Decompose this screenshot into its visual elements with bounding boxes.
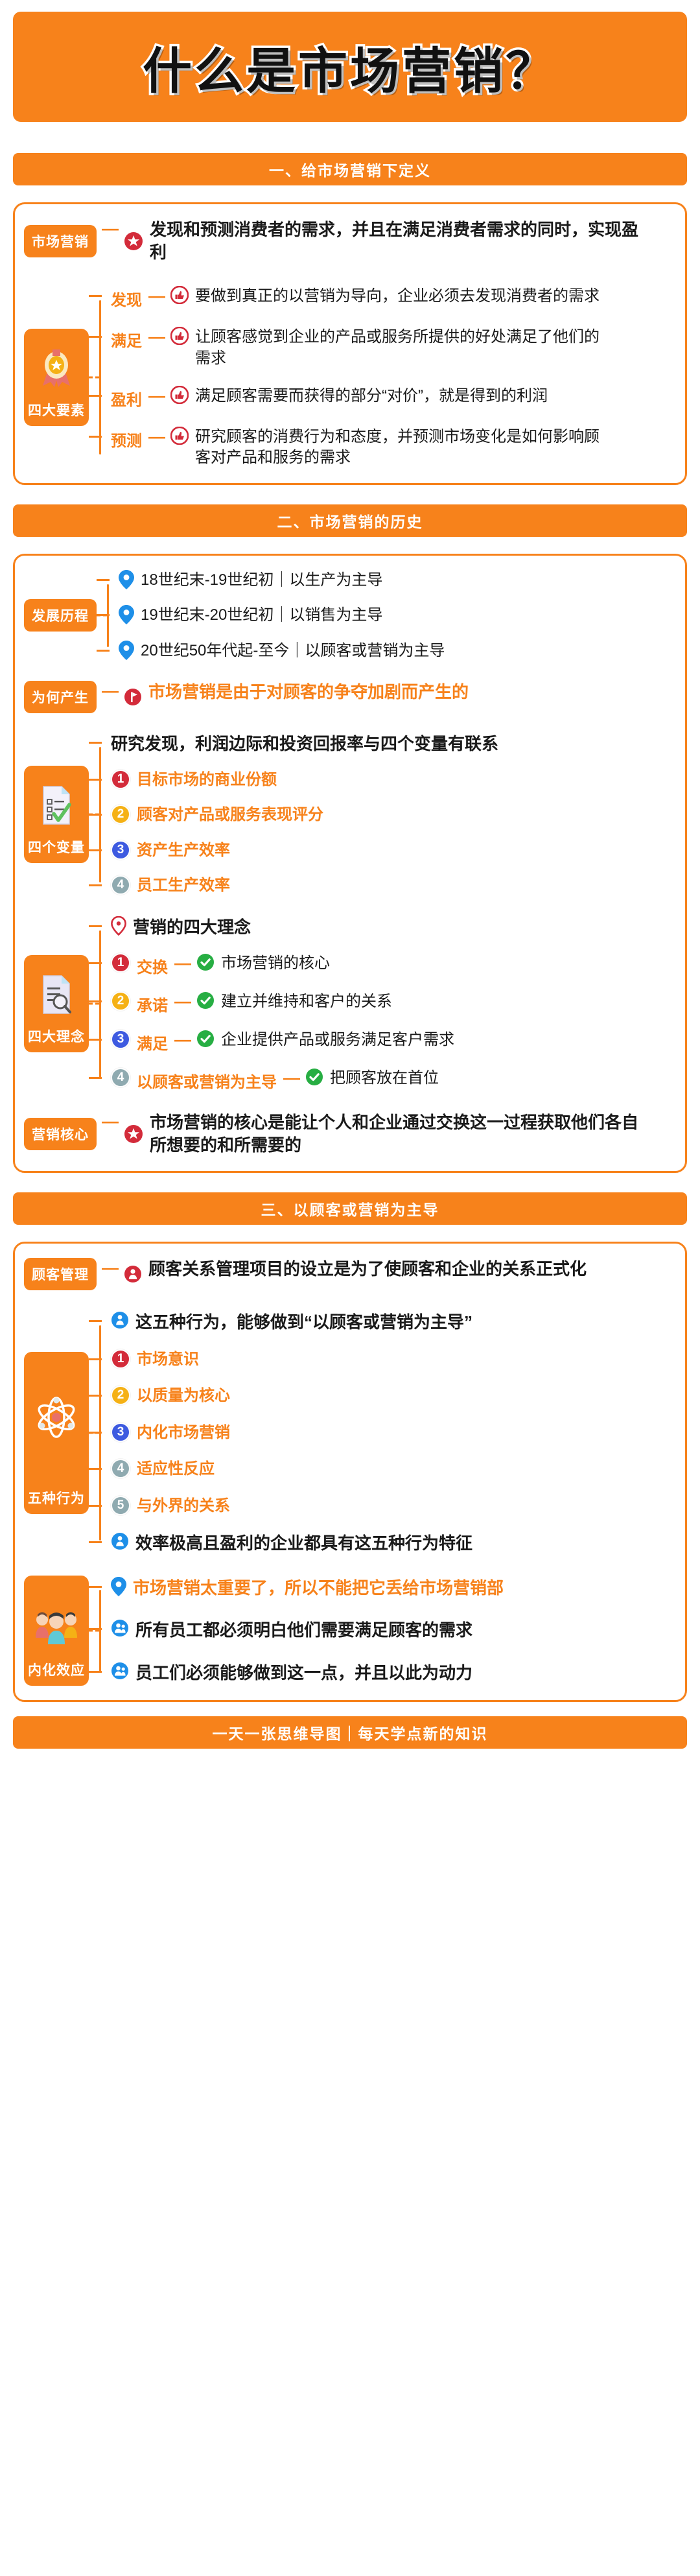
number-badge-2: 2	[111, 805, 130, 824]
list-item: 5 与外界的关系	[111, 1496, 673, 1517]
element-keyword: 满足	[111, 327, 142, 351]
elbow-connector	[89, 884, 102, 886]
crm-tag: 顾客管理	[24, 1258, 97, 1290]
title-banner: 什么是市场营销？	[13, 12, 687, 122]
elbow-connector	[89, 925, 102, 927]
thumbs-up-icon	[170, 427, 189, 445]
concept-text: 市场营销的核心	[221, 953, 330, 974]
behaviors-footer: 效率极高且盈利的企业都具有这五种行为特征	[135, 1532, 472, 1555]
variable-text: 资产生产效率	[137, 840, 230, 861]
behavior-text: 以质量为核心	[137, 1386, 230, 1406]
number-badge-1: 1	[111, 1349, 130, 1369]
branch-connector	[89, 286, 111, 469]
list-item: 19世纪末-20世纪初｜以销售为主导	[119, 605, 673, 626]
section-2-card: 发展历程 18世纪末-19世纪初｜以生产为主导	[13, 554, 687, 1173]
behavior-text: 与外界的关系	[137, 1496, 230, 1517]
variable-text: 员工生产效率	[137, 875, 230, 896]
footer-label: 一天一张思维导图｜每天学点新的知识	[213, 1721, 488, 1743]
section-2-header: 二、市场营销的历史	[13, 504, 687, 537]
elbow-connector	[89, 1432, 102, 1434]
list-item: 1 目标市场的商业份额	[111, 770, 673, 790]
check-circle-icon	[196, 953, 215, 971]
person-square-icon	[111, 1311, 129, 1329]
elbow-connector	[89, 1628, 102, 1630]
number-badge-2: 2	[111, 1386, 130, 1405]
marketing-core-text: 市场营销的核心是能让个人和企业通过交换这一过程获取他们各自所想要的和所需要的	[150, 1111, 649, 1157]
number-badge-1: 1	[111, 770, 130, 789]
concept-text: 建立并维持和客户的关系	[221, 991, 392, 1012]
connector-stub	[89, 376, 99, 378]
section-1-label: 一、给市场营销下定义	[269, 158, 431, 180]
flag-pin-icon	[124, 681, 142, 713]
number-badge-1: 1	[111, 953, 130, 973]
list-item: 3 资产生产效率	[111, 840, 673, 861]
atom-icon	[34, 1395, 79, 1445]
number-badge-4: 4	[111, 875, 130, 895]
four-elements-branch: 四大要素 发现 — 要做到真正的以营销为导向，企业必须去发现消费者的需求	[24, 286, 673, 469]
check-circle-icon	[305, 1068, 323, 1086]
list-item: 2 承诺 — 建立并维持和客户的关系	[111, 991, 673, 1015]
history-text: 20世纪50年代起-至今｜以顾客或营销为主导	[141, 641, 445, 661]
five-behaviors-branch: 五种行为 这五种行为，能够做到“以顾客或营销为主导” 1 市场意识	[24, 1311, 673, 1555]
thumbs-up-icon	[170, 386, 189, 404]
elbow-connector	[89, 1039, 102, 1041]
number-badge-2: 2	[111, 991, 130, 1011]
four-concepts-tag: 四大理念	[24, 955, 89, 1052]
list-item: 18世纪末-19世纪初｜以生产为主导	[119, 570, 673, 591]
connector-dash: —	[143, 386, 170, 406]
concepts-lead: 营销的四大理念	[133, 916, 251, 939]
element-desc: 研究顾客的消费行为和态度，并预测市场变化是如何影响顾客对产品和服务的需求	[195, 427, 610, 469]
elbow-connector	[89, 962, 102, 964]
history-text: 18世纪末-19世纪初｜以生产为主导	[141, 570, 382, 591]
history-rows: 18世纪末-19世纪初｜以生产为主导 19世纪末-20世纪初｜以销售为主导 20…	[119, 570, 673, 661]
behavior-text: 内化市场营销	[137, 1423, 230, 1443]
connector-dash: —	[97, 681, 124, 713]
list-item-lead: 研究发现，利润边际和投资回报率与四个变量有联系	[111, 733, 673, 755]
definition-branch: 市场营销 — 发现和预测消费者的需求，并且在满足消费者需求的同时，实现盈利	[24, 219, 673, 264]
elbow-connector	[89, 436, 102, 438]
team-icon	[33, 1611, 80, 1653]
element-desc: 让顾客感觉到企业的产品或服务所提供的好处满足了他们的需求	[195, 327, 610, 369]
section-3-label: 三、以顾客或营销为主导	[261, 1198, 439, 1220]
concept-keyword: 交换	[137, 953, 168, 977]
four-concepts-label: 四大理念	[28, 1026, 85, 1046]
elbow-connector	[89, 849, 102, 851]
four-variables-tag: 四个变量	[24, 766, 89, 863]
location-pin-icon	[119, 570, 134, 589]
connector-line	[99, 1590, 101, 1672]
section-1-card: 市场营销 — 发现和预测消费者的需求，并且在满足消费者需求的同时，实现盈利	[13, 202, 687, 485]
history-text: 19世纪末-20世纪初｜以销售为主导	[141, 605, 382, 626]
connector-dash: —	[169, 991, 196, 1011]
elbow-connector	[89, 295, 102, 297]
star-badge-icon	[124, 1111, 143, 1157]
four-concepts-rows: 营销的四大理念 1 交换 — 市场营销的核心 2 承诺 —	[111, 916, 673, 1092]
elbow-connector	[89, 1077, 102, 1079]
check-circle-icon	[196, 1030, 215, 1048]
medal-icon	[39, 348, 74, 394]
list-item: 盈利 — 满足顾客需要而获得的部分“对价”，就是得到的利润	[111, 386, 673, 410]
elbow-connector	[89, 1541, 102, 1543]
connector-dash: —	[143, 286, 170, 306]
list-item-lead: 营销的四大理念	[111, 916, 673, 939]
list-item-footer: 效率极高且盈利的企业都具有这五种行为特征	[111, 1532, 673, 1555]
thumbs-up-icon	[170, 286, 189, 304]
person-badge-icon	[124, 1258, 142, 1290]
internalization-text: 市场营销太重要了，所以不能把它丢给市场营销部	[133, 1577, 504, 1600]
elbow-connector	[89, 1000, 102, 1002]
number-badge-3: 3	[111, 1423, 130, 1442]
marketing-core-tag: 营销核心	[24, 1118, 97, 1150]
number-badge-4: 4	[111, 1459, 130, 1478]
connector-line	[99, 930, 101, 1078]
list-item-lead: 这五种行为，能够做到“以顾客或营销为主导”	[111, 1311, 673, 1334]
list-item: 市场营销太重要了，所以不能把它丢给市场营销部	[111, 1577, 673, 1600]
list-item: 满足 — 让顾客感觉到企业的产品或服务所提供的好处满足了他们的需求	[111, 327, 673, 369]
four-elements-label: 四大要素	[28, 400, 85, 419]
variables-lead: 研究发现，利润边际和投资回报率与四个变量有联系	[111, 733, 498, 755]
concept-keyword: 承诺	[137, 991, 168, 1015]
four-variables-label: 四个变量	[28, 837, 85, 857]
connector-dash: —	[143, 427, 170, 447]
four-elements-tag: 四大要素	[24, 329, 89, 426]
elbow-connector	[89, 1320, 102, 1322]
internalization-branch: 内化效应 市场营销太重要了，所以不能把它丢给市场营销部	[24, 1576, 673, 1686]
location-pin-icon	[119, 605, 134, 624]
list-item: 发现 — 要做到真正的以营销为导向，企业必须去发现消费者的需求	[111, 286, 673, 310]
concept-text: 把顾客放在首位	[330, 1068, 439, 1089]
element-desc: 满足顾客需要而获得的部分“对价”，就是得到的利润	[195, 386, 548, 407]
number-badge-5: 5	[111, 1496, 130, 1515]
internalization-rows: 市场营销太重要了，所以不能把它丢给市场营销部 所有员工都必须明白他们需要满足顾客…	[111, 1576, 673, 1686]
elbow-connector	[89, 1586, 102, 1588]
people-circle-icon	[111, 1662, 129, 1680]
location-pin-icon	[111, 1577, 126, 1596]
number-badge-4: 4	[111, 1068, 130, 1087]
elbow-connector	[89, 1505, 102, 1507]
element-keyword: 盈利	[111, 386, 142, 410]
connector-dash: —	[169, 1030, 196, 1050]
check-circle-icon	[196, 991, 215, 1010]
connector-dash: —	[143, 327, 170, 347]
marketing-core-branch: 营销核心 — 市场营销的核心是能让个人和企业通过交换这一过程获取他们各自所想要的…	[24, 1111, 673, 1157]
definition-tag: 市场营销	[24, 225, 97, 257]
list-item: 2 以质量为核心	[111, 1386, 673, 1406]
internalization-text: 所有员工都必须明白他们需要满足顾客的需求	[135, 1619, 472, 1642]
elbow-connector	[89, 742, 102, 744]
origin-tag: 为何产生	[24, 681, 97, 713]
star-badge-icon	[124, 219, 143, 264]
elbow-connector	[97, 614, 110, 616]
connector-dash: —	[97, 219, 124, 264]
element-keyword: 预测	[111, 427, 142, 451]
behavior-text: 市场意识	[137, 1349, 199, 1370]
list-item: 员工们必须能够做到这一点，并且以此为动力	[111, 1662, 673, 1684]
list-item: 1 市场意识	[111, 1349, 673, 1370]
four-variables-rows: 研究发现，利润边际和投资回报率与四个变量有联系 1 目标市场的商业份额 2 顾客…	[111, 733, 673, 897]
elbow-connector	[97, 650, 110, 652]
branch-connector	[89, 1576, 111, 1686]
connector-stub	[89, 1003, 99, 1005]
connector-dash: —	[97, 1258, 124, 1290]
crm-text: 顾客关系管理项目的设立是为了使顾客和企业的关系正式化	[148, 1258, 587, 1290]
list-item: 所有员工都必须明白他们需要满足顾客的需求	[111, 1619, 673, 1642]
definition-text: 发现和预测消费者的需求，并且在满足消费者需求的同时，实现盈利	[150, 219, 649, 264]
doc-magnifier-icon	[40, 975, 73, 1020]
element-desc: 要做到真正的以营销为导向，企业必须去发现消费者的需求	[195, 286, 600, 307]
thumbs-up-icon	[170, 327, 189, 345]
list-item: 2 顾客对产品或服务表现评分	[111, 805, 673, 825]
behaviors-lead: 这五种行为，能够做到“以顾客或营销为主导”	[135, 1311, 472, 1334]
list-item: 4 以顾客或营销为主导 — 把顾客放在首位	[111, 1068, 673, 1092]
internalization-tag: 内化效应	[24, 1576, 89, 1686]
five-behaviors-rows: 这五种行为，能够做到“以顾客或营销为主导” 1 市场意识 2 以质量为核心 3 …	[111, 1311, 673, 1555]
elbow-connector	[89, 779, 102, 781]
elbow-connector	[89, 1671, 102, 1673]
elbow-connector	[89, 336, 102, 338]
concept-keyword: 以顾客或营销为主导	[137, 1068, 277, 1092]
list-item: 1 交换 — 市场营销的核心	[111, 953, 673, 977]
checklist-doc-icon	[40, 785, 73, 831]
number-badge-3: 3	[111, 1030, 130, 1049]
element-keyword: 发现	[111, 286, 142, 310]
elbow-connector	[89, 1395, 102, 1397]
list-item: 3 内化市场营销	[111, 1423, 673, 1443]
section-3-card: 顾客管理 — 顾客关系管理项目的设立是为了使顾客和企业的关系正式化	[13, 1242, 687, 1702]
elbow-connector	[89, 1468, 102, 1470]
page-title: 什么是市场营销？	[143, 31, 557, 102]
infographic-page: 什么是市场营销？ 一、给市场营销下定义 市场营销 — 发现和预测消费者的需求，并…	[0, 0, 700, 2576]
internalization-text: 员工们必须能够做到这一点，并且以此为动力	[135, 1662, 472, 1684]
origin-text: 市场营销是由于对顾客的争夺加剧而产生的	[148, 681, 469, 713]
people-circle-icon	[111, 1619, 129, 1637]
list-item: 4 员工生产效率	[111, 875, 673, 896]
four-concepts-branch: 四大理念 营销的四大理念 1 交换 —	[24, 916, 673, 1092]
behavior-text: 适应性反应	[137, 1459, 215, 1480]
crm-branch: 顾客管理 — 顾客关系管理项目的设立是为了使顾客和企业的关系正式化	[24, 1258, 673, 1290]
history-tag: 发展历程	[24, 599, 97, 632]
branch-connector	[89, 916, 111, 1092]
connector-dash: —	[278, 1068, 305, 1088]
list-item: 20世纪50年代起-至今｜以顾客或营销为主导	[119, 641, 673, 661]
internalization-label: 内化效应	[28, 1660, 85, 1679]
history-branch: 发展历程 18世纪末-19世纪初｜以生产为主导	[24, 570, 673, 661]
section-1-header: 一、给市场营销下定义	[13, 153, 687, 185]
elbow-connector	[97, 579, 110, 581]
five-behaviors-tag: 五种行为	[24, 1352, 89, 1514]
list-item: 3 满足 — 企业提供产品或服务满足客户需求	[111, 1030, 673, 1054]
number-badge-3: 3	[111, 840, 130, 860]
five-behaviors-label: 五种行为	[28, 1488, 85, 1507]
concept-keyword: 满足	[137, 1030, 168, 1054]
four-variables-branch: 四个变量 研究发现，利润边际和投资回报率与四个变量有联系 1 目标市场的商业份额	[24, 733, 673, 897]
connector-dash: —	[97, 1111, 124, 1157]
pin-outline-icon	[111, 916, 126, 936]
variable-text: 顾客对产品或服务表现评分	[137, 805, 323, 825]
person-square-icon	[111, 1532, 129, 1550]
connector-dash: —	[169, 953, 196, 973]
footer-banner: 一天一张思维导图｜每天学点新的知识	[13, 1716, 687, 1749]
list-item: 4 适应性反应	[111, 1459, 673, 1480]
connector-line	[99, 300, 101, 455]
elbow-connector	[89, 1358, 102, 1360]
location-pin-icon	[119, 641, 134, 660]
elbow-connector	[89, 395, 102, 397]
concept-text: 企业提供产品或服务满足客户需求	[221, 1030, 454, 1050]
section-2-label: 二、市场营销的历史	[277, 510, 423, 532]
origin-branch: 为何产生 — 市场营销是由于对顾客的争夺加剧而产生的	[24, 681, 673, 713]
four-elements-rows: 发现 — 要做到真正的以营销为导向，企业必须去发现消费者的需求 满足 — 让顾客…	[111, 286, 673, 469]
section-3-header: 三、以顾客或营销为主导	[13, 1192, 687, 1225]
elbow-connector	[89, 814, 102, 816]
variable-text: 目标市场的商业份额	[137, 770, 277, 790]
list-item: 预测 — 研究顾客的消费行为和态度，并预测市场变化是如何影响顾客对产品和服务的需…	[111, 427, 673, 469]
